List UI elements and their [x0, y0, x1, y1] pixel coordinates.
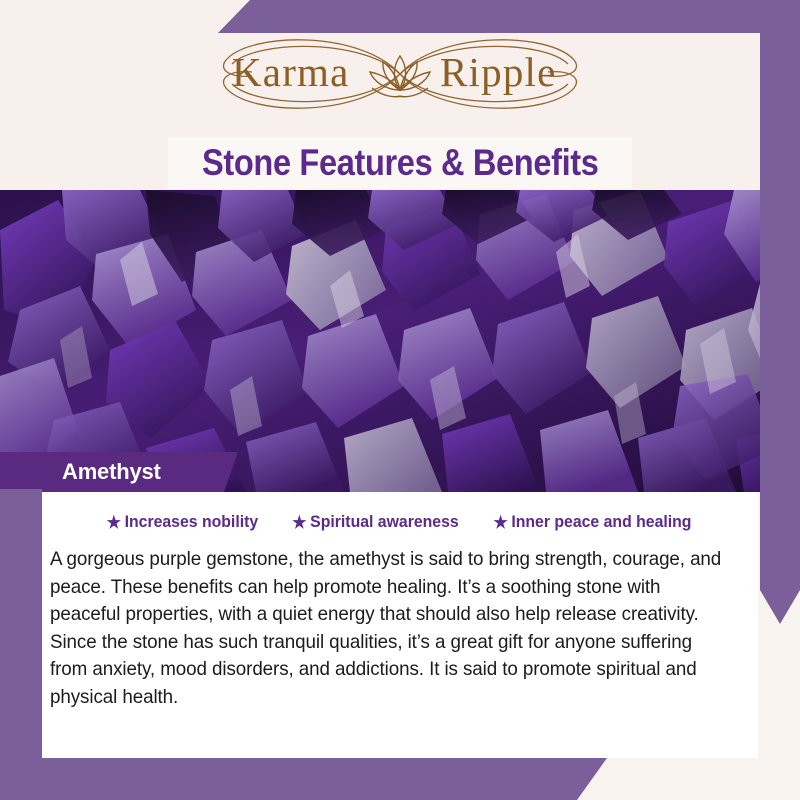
brand-name-right: Ripple	[440, 48, 557, 96]
star-icon: ★	[494, 514, 508, 531]
page-title: Stone Features & Benefits	[168, 137, 632, 189]
brand-logo: Karma Ripple	[0, 26, 800, 122]
benefits-list: ★ Increases nobility ★ Spiritual awarene…	[50, 500, 750, 544]
benefit-item-2: ★ Inner peace and healing	[494, 512, 692, 532]
stone-description: A gorgeous purple gemstone, the amethyst…	[50, 546, 726, 711]
benefit-item-0: ★ Increases nobility	[106, 512, 257, 532]
stone-name-label: Amethyst	[62, 459, 161, 485]
hero-image	[0, 190, 800, 492]
page-title-text: Stone Features & Benefits	[202, 142, 598, 184]
decor-band-right-chevron	[760, 0, 800, 624]
benefit-label-0: Increases nobility	[124, 512, 258, 532]
stone-name-banner: Amethyst	[0, 452, 238, 492]
amethyst-crystal-graphic	[0, 190, 800, 492]
brand-name-left: Karma	[232, 48, 350, 96]
benefit-item-1: ★ Spiritual awareness	[292, 512, 458, 532]
decor-band-left	[0, 489, 42, 770]
stone-details-card: ★ Increases nobility ★ Spiritual awarene…	[42, 492, 758, 758]
stone-info-card: Karma Ripple Stone Features & Benefits A…	[0, 0, 800, 800]
star-icon: ★	[292, 514, 306, 531]
star-icon: ★	[106, 514, 120, 531]
benefit-label-1: Spiritual awareness	[310, 512, 459, 532]
decor-band-bottom-left	[0, 758, 607, 800]
benefit-label-2: Inner peace and healing	[512, 512, 692, 532]
decor-band-top-right	[218, 0, 800, 33]
